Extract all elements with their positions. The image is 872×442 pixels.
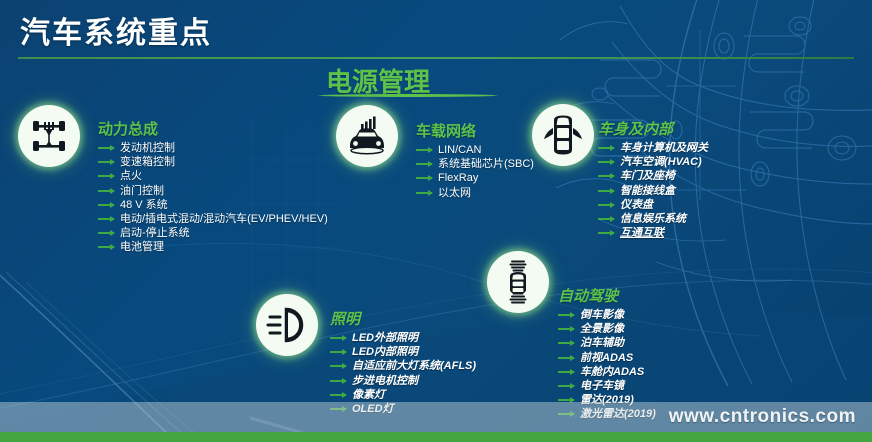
list-item-label: 仪表盘 xyxy=(620,199,653,211)
arrow-icon xyxy=(598,190,614,192)
arrow-icon xyxy=(416,192,432,194)
list-item[interactable]: 电子车镜 xyxy=(558,379,656,393)
list-item[interactable]: 互通互联 xyxy=(598,226,708,240)
title-divider xyxy=(18,57,854,59)
arrow-icon xyxy=(558,328,574,330)
arrow-icon xyxy=(598,175,614,177)
group-in-vehicle-network: 车载网络 LIN/CAN 系统基础芯片(SBC) FlexRay 以太网 xyxy=(416,120,534,200)
list-item-label: 像素灯 xyxy=(352,389,385,401)
arrow-icon xyxy=(598,204,614,206)
list-item[interactable]: 48 V 系统 xyxy=(98,198,328,212)
page-title: 汽车系统重点 xyxy=(20,8,212,52)
list-item-label: 电子车镜 xyxy=(580,380,624,392)
list-item[interactable]: 以太网 xyxy=(416,186,534,200)
group-powertrain: 动力总成 发动机控制 变速箱控制 点火 油门控制 48 V 系统 电动/插电式混… xyxy=(98,118,328,255)
arrow-icon xyxy=(330,337,346,339)
group-lighting: 照明 LED外部照明 LED内部照明 自适应前大灯系统(AFLS) 步进电机控制… xyxy=(330,308,476,416)
arrow-icon xyxy=(98,232,114,234)
arrow-icon xyxy=(558,342,574,344)
list-item-label: 点火 xyxy=(120,170,142,182)
arrow-icon xyxy=(98,190,114,192)
list-item-label: 倒车影像 xyxy=(580,309,624,321)
slide-canvas: 汽车系统重点 电源管理 xyxy=(0,0,872,442)
arrow-icon xyxy=(98,161,114,163)
list-item-label: 发动机控制 xyxy=(120,142,175,154)
list-item-label: 启动-停止系统 xyxy=(120,227,190,239)
arrow-icon xyxy=(98,218,114,220)
list-item-label: 电池管理 xyxy=(120,241,164,253)
list-item-label: 车门及座椅 xyxy=(620,170,675,182)
bottom-accent-bar xyxy=(0,432,872,442)
group-heading-network: 车载网络 xyxy=(416,120,534,141)
list-item[interactable]: 汽车空调(HVAC) xyxy=(598,155,708,169)
list-item-label: 车身计算机及网关 xyxy=(620,142,708,154)
list-item[interactable]: 自适应前大灯系统(AFLS) xyxy=(330,359,476,373)
arrow-icon xyxy=(598,161,614,163)
arrow-icon xyxy=(558,385,574,387)
arrow-icon xyxy=(558,314,574,316)
list-item-label: 系统基础芯片(SBC) xyxy=(438,158,534,170)
car-top-view-radar-icon xyxy=(487,251,549,313)
list-item-label: LED外部照明 xyxy=(352,332,418,344)
list-item[interactable]: 系统基础芯片(SBC) xyxy=(416,157,534,171)
list-item-label: 48 V 系统 xyxy=(120,199,168,211)
arrow-icon xyxy=(416,177,432,179)
list-item-label: 汽车空调(HVAC) xyxy=(620,156,702,168)
list-item[interactable]: 像素灯 xyxy=(330,388,476,402)
list-item[interactable]: 倒车影像 xyxy=(558,308,656,322)
arrow-icon xyxy=(330,351,346,353)
arrow-icon xyxy=(598,147,614,149)
list-item[interactable]: 车门及座椅 xyxy=(598,169,708,183)
list-item[interactable]: 全景影像 xyxy=(558,322,656,336)
list-item-label: 电动/插电式混动/混动汽车(EV/PHEV/HEV) xyxy=(120,213,328,225)
car-top-view-doors-open-icon xyxy=(532,104,594,166)
list-item-label: LIN/CAN xyxy=(438,144,481,156)
list-item-label: 步进电机控制 xyxy=(352,375,418,387)
group-heading-lighting: 照明 xyxy=(330,308,476,329)
list-item-label: 前视ADAS xyxy=(580,352,633,364)
list-item-label: 智能接线盒 xyxy=(620,185,675,197)
list-item[interactable]: 发动机控制 xyxy=(98,141,328,155)
list-body: 车身计算机及网关 汽车空调(HVAC) 车门及座椅 智能接线盒 仪表盘 信息娱乐… xyxy=(598,141,708,240)
arrow-icon xyxy=(98,246,114,248)
arrow-icon xyxy=(98,175,114,177)
list-item[interactable]: LED外部照明 xyxy=(330,331,476,345)
arrow-icon xyxy=(558,357,574,359)
list-item[interactable]: 点火 xyxy=(98,169,328,183)
list-item[interactable]: 油门控制 xyxy=(98,184,328,198)
arrow-icon xyxy=(330,380,346,382)
list-item[interactable]: 步进电机控制 xyxy=(330,374,476,388)
list-item-label: 泊车辅助 xyxy=(580,337,624,349)
group-body-and-interior: 车身及内部 车身计算机及网关 汽车空调(HVAC) 车门及座椅 智能接线盒 仪表… xyxy=(598,118,708,240)
arrow-icon xyxy=(330,394,346,396)
list-item-label: 以太网 xyxy=(438,187,471,199)
list-item[interactable]: LED内部照明 xyxy=(330,345,476,359)
list-item[interactable]: 电动/插电式混动/混动汽车(EV/PHEV/HEV) xyxy=(98,212,328,226)
list-item[interactable]: 泊车辅助 xyxy=(558,336,656,350)
list-item-label: 互通互联 xyxy=(620,227,664,239)
list-item-label: 油门控制 xyxy=(120,185,164,197)
list-item[interactable]: 前视ADAS xyxy=(558,351,656,365)
arrow-icon xyxy=(330,365,346,367)
list-item[interactable]: 电池管理 xyxy=(98,240,328,254)
group-heading-powertrain: 动力总成 xyxy=(98,118,328,139)
arrow-icon xyxy=(558,399,574,401)
list-item[interactable]: 车舱内ADAS xyxy=(558,365,656,379)
list-item-label: 车舱内ADAS xyxy=(580,366,644,378)
group-heading-autodrive: 自动驾驶 xyxy=(558,285,656,306)
group-heading-body: 车身及内部 xyxy=(598,118,708,139)
list-powertrain: 发动机控制 变速箱控制 点火 油门控制 48 V 系统 电动/插电式混动/混动汽… xyxy=(98,141,328,255)
arrow-icon xyxy=(598,232,614,234)
list-item[interactable]: 信息娱乐系统 xyxy=(598,212,708,226)
list-item[interactable]: 变速箱控制 xyxy=(98,155,328,169)
arrow-icon xyxy=(98,204,114,206)
chassis-drivetrain-icon xyxy=(18,105,80,167)
list-item-label: LED内部照明 xyxy=(352,346,418,358)
list-item-label: 变速箱控制 xyxy=(120,156,175,168)
list-item-label: 自适应前大灯系统(AFLS) xyxy=(352,360,476,372)
list-item[interactable]: LIN/CAN xyxy=(416,143,534,157)
power-management-underline xyxy=(318,94,498,97)
list-item[interactable]: FlexRay xyxy=(416,171,534,185)
arrow-icon xyxy=(416,149,432,151)
watermark-text: www.cntronics.com xyxy=(669,406,856,428)
arrow-icon xyxy=(416,163,432,165)
arrow-icon xyxy=(598,218,614,220)
list-item-label: 信息娱乐系统 xyxy=(620,213,686,225)
list-item[interactable]: 车身计算机及网关 xyxy=(598,141,708,155)
list-network: LIN/CAN 系统基础芯片(SBC) FlexRay 以太网 xyxy=(416,143,534,200)
headlight-beam-icon xyxy=(256,294,318,356)
connected-car-signal-icon xyxy=(336,105,398,167)
arrow-icon xyxy=(98,147,114,149)
list-item[interactable]: 仪表盘 xyxy=(598,198,708,212)
list-item[interactable]: 启动-停止系统 xyxy=(98,226,328,240)
arrow-icon xyxy=(558,371,574,373)
list-item-label: FlexRay xyxy=(438,172,478,184)
list-item[interactable]: 智能接线盒 xyxy=(598,184,708,198)
list-item-label: 全景影像 xyxy=(580,323,624,335)
